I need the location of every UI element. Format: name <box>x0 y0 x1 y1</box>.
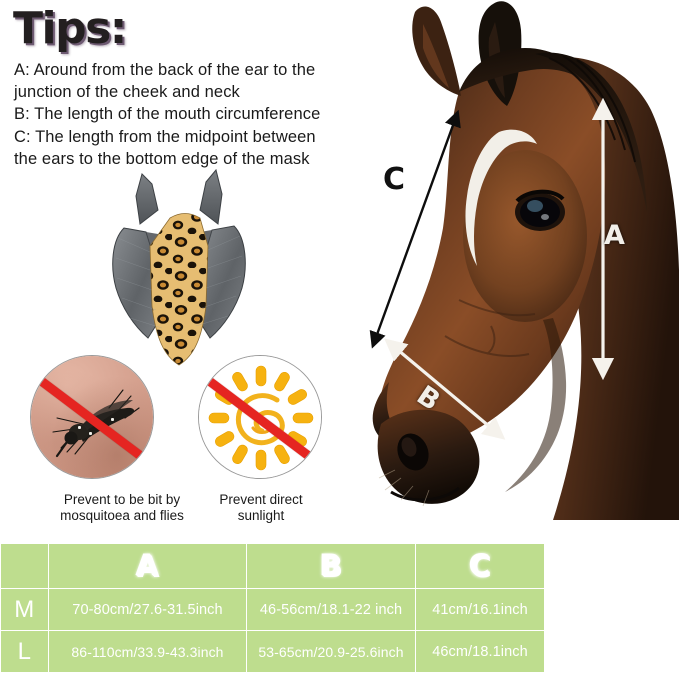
row-l-value-c: 46cm/18.1inch <box>416 631 545 673</box>
size-guide-page: Tips: A: Around from the back of the ear… <box>0 0 679 672</box>
sun-no-icon <box>198 355 322 479</box>
table-header-size <box>1 544 49 589</box>
row-size-m: M <box>1 589 49 631</box>
benefit-sunlight-caption: Prevent direct sunlight <box>166 492 356 523</box>
benefit-sunlight-caption-line1: Prevent direct <box>166 492 356 508</box>
table-header-row: A B C <box>1 544 545 589</box>
fly-mask-illustration <box>104 166 254 366</box>
tips-line-1: A: Around from the back of the ear to th… <box>14 59 339 81</box>
table-header-c: C <box>416 544 545 589</box>
mosquito-no-icon <box>30 355 154 479</box>
row-m-value-c: 41cm/16.1inch <box>416 589 545 631</box>
row-size-l: L <box>1 631 49 673</box>
horse-head-svg <box>339 0 679 540</box>
benefit-mosquito <box>30 355 154 479</box>
page-title: Tips: <box>13 6 126 52</box>
tips-line-3: B: The length of the mouth circumference <box>14 103 339 125</box>
table-row: L 86-110cm/33.9-43.3inch 53-65cm/20.9-25… <box>1 631 545 673</box>
table-header-b: B <box>247 544 416 589</box>
benefit-sunlight-caption-line2: sunlight <box>166 508 356 524</box>
fly-mask-svg <box>104 166 254 366</box>
table-header-a: A <box>49 544 247 589</box>
tips-line-4: C: The length from the midpoint between <box>14 126 339 148</box>
horse-head-photo <box>339 0 679 540</box>
table-row: M 70-80cm/27.6-31.5inch 46-56cm/18.1-22 … <box>1 589 545 631</box>
size-chart-table: A B C M 70-80cm/27.6-31.5inch 46-56cm/18… <box>0 543 545 673</box>
row-l-value-b: 53-65cm/20.9-25.6inch <box>247 631 416 673</box>
benefit-sunlight <box>198 355 322 479</box>
tips-description: A: Around from the back of the ear to th… <box>14 59 339 170</box>
tips-line-2: junction of the cheek and neck <box>14 81 339 103</box>
row-m-value-b: 46-56cm/18.1-22 inch <box>247 589 416 631</box>
row-m-value-a: 70-80cm/27.6-31.5inch <box>49 589 247 631</box>
row-l-value-a: 86-110cm/33.9-43.3inch <box>49 631 247 673</box>
